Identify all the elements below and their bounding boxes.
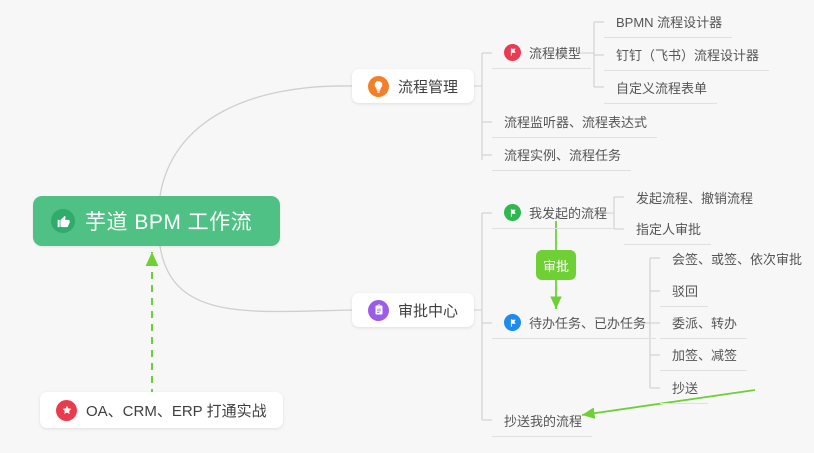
node-my-started-process[interactable]: 我发起的流程 (492, 197, 617, 229)
node-label-dingtalk-designer: 钉钉（飞书）流程设计器 (616, 45, 759, 64)
flag-icon (504, 204, 521, 221)
node-label-process-model: 流程模型 (529, 43, 581, 62)
node-label-cc-to-me-process: 抄送我的流程 (504, 411, 582, 430)
approval-pill-label: 审批 (543, 256, 569, 275)
approval-pill[interactable]: 审批 (536, 250, 576, 280)
branch-node-process-management[interactable]: 流程管理 (352, 69, 474, 103)
star-icon (56, 400, 77, 421)
node-label-start-cancel-process: 发起流程、撤销流程 (636, 188, 753, 207)
node-label-custom-form: 自定义流程表单 (616, 78, 707, 97)
root-node[interactable]: 芋道 BPM 工作流 (33, 196, 280, 246)
thumbs-up-icon (51, 209, 75, 233)
node-label-add-remove-sign: 加签、减签 (672, 345, 737, 364)
lightbulb-icon (368, 76, 389, 97)
node-cc-to-me-process[interactable]: 抄送我的流程 (492, 404, 592, 437)
node-start-cancel-process[interactable]: 发起流程、撤销流程 (624, 181, 763, 213)
node-reject[interactable]: 驳回 (660, 274, 708, 307)
bottom-note-node[interactable]: OA、CRM、ERP 打通实战 (40, 392, 283, 428)
connector-root-to-approval-center (160, 246, 352, 312)
node-delegate-transfer[interactable]: 委派、转办 (660, 307, 747, 339)
node-label-bpmn-designer: BPMN 流程设计器 (616, 12, 722, 31)
mindmap-canvas: 芋道 BPM 工作流 流程管理 流程模型 BPMN 流程设计器 钉钉（飞书）流程… (0, 0, 814, 453)
branch-label-process-management: 流程管理 (398, 76, 458, 97)
branch-node-approval-center[interactable]: 审批中心 (352, 293, 474, 327)
connector-root-to-process-management (160, 86, 352, 196)
clipboard-icon (368, 300, 389, 321)
node-add-remove-sign[interactable]: 加签、减签 (660, 339, 747, 371)
bottom-note-label: OA、CRM、ERP 打通实战 (86, 400, 267, 421)
node-label-my-started-process: 我发起的流程 (529, 203, 607, 222)
node-todo-done-tasks[interactable]: 待办任务、已办任务 (492, 307, 656, 339)
node-process-instance[interactable]: 流程实例、流程任务 (492, 138, 631, 171)
node-label-assignee-approval: 指定人审批 (636, 219, 701, 238)
node-label-process-instance: 流程实例、流程任务 (504, 145, 621, 164)
node-label-delegate-transfer: 委派、转办 (672, 313, 737, 332)
flag-icon (504, 44, 521, 61)
root-label: 芋道 BPM 工作流 (85, 206, 252, 236)
node-label-todo-done-tasks: 待办任务、已办任务 (529, 313, 646, 332)
node-label-reject: 驳回 (672, 281, 698, 300)
node-label-cc: 抄送 (672, 378, 698, 397)
node-countersign[interactable]: 会签、或签、依次审批 (660, 242, 812, 274)
node-process-model[interactable]: 流程模型 (492, 36, 591, 69)
branch-label-approval-center: 审批中心 (398, 300, 458, 321)
node-dingtalk-designer[interactable]: 钉钉（飞书）流程设计器 (604, 38, 769, 71)
node-bpmn-designer[interactable]: BPMN 流程设计器 (604, 6, 732, 38)
node-label-countersign: 会签、或签、依次审批 (672, 249, 802, 268)
node-process-listener[interactable]: 流程监听器、流程表达式 (492, 106, 657, 138)
node-cc[interactable]: 抄送 (660, 371, 708, 404)
flag-icon (504, 314, 521, 331)
node-custom-form[interactable]: 自定义流程表单 (604, 71, 717, 104)
node-label-process-listener: 流程监听器、流程表达式 (504, 112, 647, 131)
node-assignee-approval[interactable]: 指定人审批 (624, 213, 711, 245)
